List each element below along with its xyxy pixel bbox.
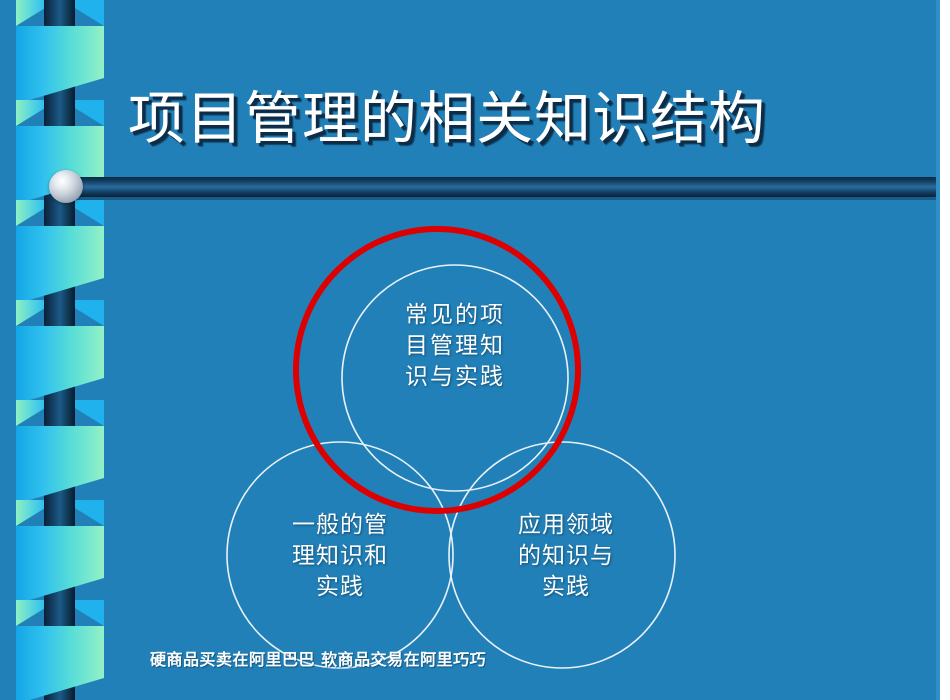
venn-label-bottom-right: 应用领域 的知识与 实践 <box>462 510 670 603</box>
venn-label-bottom-left: 一般的管 理知识和 实践 <box>236 510 444 603</box>
presentation-slide: 项目管理的相关知识结构 常见的项 目管理知 识与实践 一般的管 理知识和 实践 … <box>0 0 950 700</box>
venn-label-top: 常见的项 目管理知 识与实践 <box>345 300 565 393</box>
footer-watermark: 硬商品买卖在阿里巴巴 软商品交易在阿里巧巧 <box>150 646 486 670</box>
